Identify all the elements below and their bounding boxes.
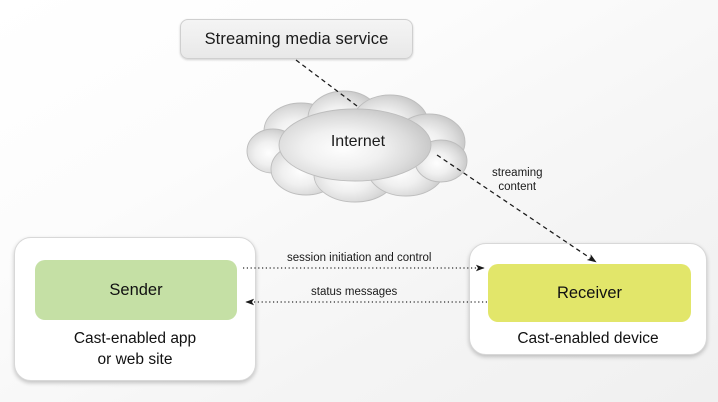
receiver-label: Receiver [557, 284, 622, 303]
receiver-caption: Cast-enabled device [470, 328, 706, 349]
sender-label: Sender [109, 281, 162, 300]
node-internet-cloud: Internet [243, 85, 473, 205]
node-receiver-card: Receiver Cast-enabled device [469, 243, 707, 355]
connector-label-status-messages: status messages [311, 286, 397, 298]
sender-caption: Cast-enabled app or web site [15, 328, 255, 370]
receiver-box: Receiver [488, 264, 691, 322]
cast-architecture-diagram: Streaming media service [0, 0, 718, 402]
sender-box: Sender [35, 260, 237, 320]
streaming-content-line-1: streaming [492, 166, 543, 180]
connector-label-streaming-content: streaming content [492, 166, 543, 194]
streaming-media-service-label: Streaming media service [205, 30, 389, 49]
node-streaming-media-service: Streaming media service [180, 19, 413, 59]
streaming-content-line-2: content [492, 180, 543, 194]
cloud-shape-icon [243, 85, 473, 205]
sender-caption-line-1: Cast-enabled app [15, 328, 255, 349]
node-sender-card: Sender Cast-enabled app or web site [14, 237, 256, 381]
receiver-caption-line-1: Cast-enabled device [470, 328, 706, 349]
sender-caption-line-2: or web site [15, 349, 255, 370]
connector-label-session-initiation: session initiation and control [287, 252, 431, 264]
